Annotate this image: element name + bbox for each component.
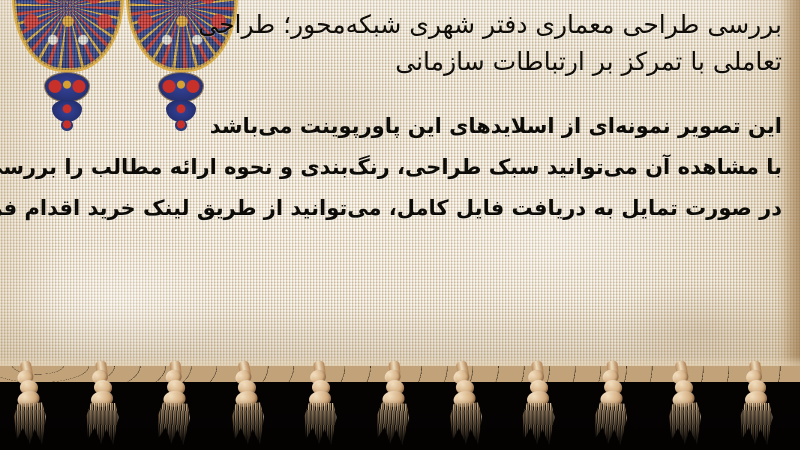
slide-body-line-2: با مشاهده آن می‌توانید سبک طراحی، رنگ‌بن… — [22, 147, 782, 188]
fringe-tassel — [3, 365, 59, 450]
presentation-slide: بررسی طراحی معماری دفتر شهری شبکه‌محور؛ … — [0, 0, 800, 450]
fringe-tassel — [221, 365, 277, 450]
tassel-skirt — [449, 402, 485, 446]
slide-body: این تصویر نمونه‌ای از اسلایدهای این پاور… — [22, 106, 782, 229]
fringe-tassel — [585, 365, 641, 450]
fringe-tassel — [439, 365, 495, 450]
fringe-tassel — [148, 365, 204, 450]
slide-title-line-1: بررسی طراحی معماری دفتر شهری شبکه‌محور؛ … — [22, 6, 782, 43]
knotted-tassel-fringe — [0, 366, 800, 450]
tassel-skirt — [231, 402, 267, 446]
tassel-skirt — [304, 403, 338, 445]
slide-title-line-2: تعاملی با تمرکز بر ارتباطات سازمانی — [22, 43, 782, 80]
fringe-tassel — [78, 366, 130, 450]
tassel-skirt — [86, 403, 120, 445]
tassel-skirt — [13, 402, 49, 446]
slide-body-line-1: این تصویر نمونه‌ای از اسلایدهای این پاور… — [22, 106, 782, 147]
fringe-tassel — [514, 366, 566, 450]
tassel-skirt — [668, 402, 704, 446]
tassel-skirt — [375, 402, 411, 446]
tassel-skirt — [156, 402, 192, 446]
tassel-skirt — [522, 403, 556, 445]
tassel-skirt — [593, 402, 629, 446]
fringe-tassel — [732, 366, 784, 450]
slide-text-area: بررسی طراحی معماری دفتر شهری شبکه‌محور؛ … — [0, 0, 800, 374]
tassel-skirt — [740, 403, 774, 445]
slide-title: بررسی طراحی معماری دفتر شهری شبکه‌محور؛ … — [22, 6, 782, 80]
fringe-tassel — [658, 365, 714, 450]
fringe-tassel — [367, 365, 423, 450]
fringe-tassel — [296, 366, 348, 450]
slide-body-line-3: در صورت تمایل به دریافت فایل کامل، می‌تو… — [22, 188, 782, 229]
